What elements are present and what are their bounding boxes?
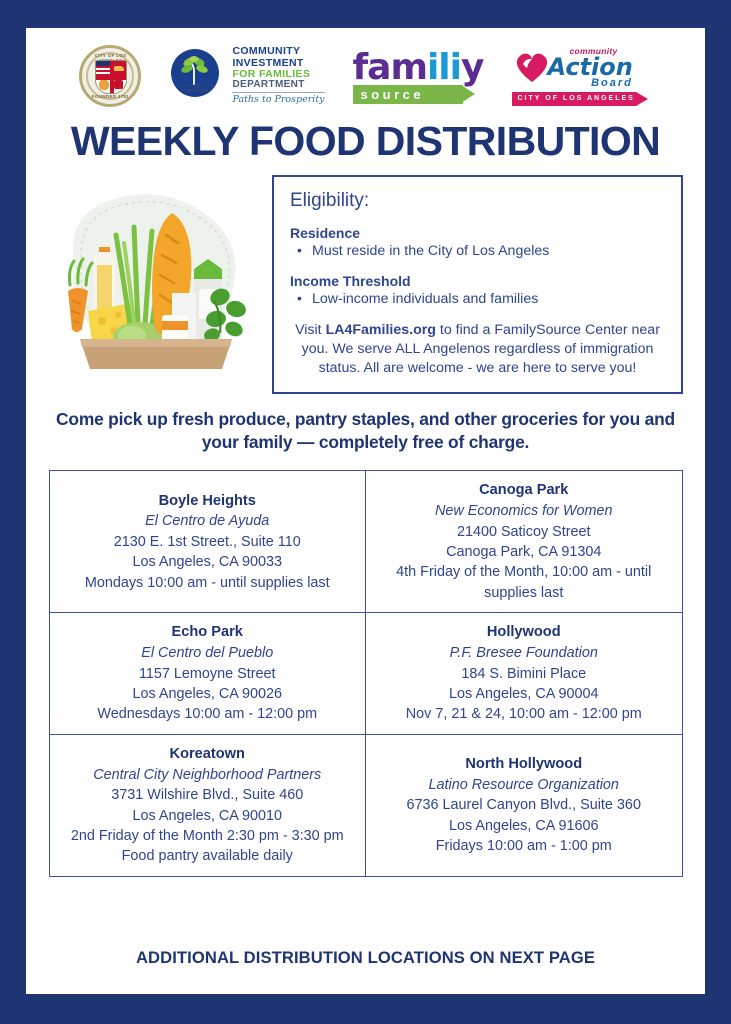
flyer-page: CITY OF LOS ANGELES FOUNDED 1781 (0, 0, 731, 1024)
table-row: Koreatown Central City Neighborhood Part… (49, 734, 682, 876)
eligibility-heading: Eligibility: (290, 190, 665, 212)
seal-bottom-text: FOUNDED 1781 (82, 94, 138, 99)
footer-note: ADDITIONAL DISTRIBUTION LOCATIONS ON NEX… (26, 948, 705, 994)
tree-icon (181, 55, 209, 85)
logo-row: CITY OF LOS ANGELES FOUNDED 1781 (26, 28, 705, 116)
food-basket-icon (44, 173, 264, 381)
location-cell-boyle-heights: Boyle Heights El Centro de Ayuda 2130 E.… (49, 471, 366, 613)
table-row: Echo Park El Centro del Pueblo 1157 Lemo… (49, 613, 682, 735)
grocery-box-illustration (44, 173, 264, 381)
cifd-tagline: Paths to Prosperity (232, 93, 324, 105)
location-city: Los Angeles, CA 91606 (374, 816, 674, 836)
cifd-logo: CITY OF LOS ANGELES COMMUNITY INVESTMENT… (167, 46, 324, 105)
familysource-logo: familiy source (351, 45, 486, 107)
visit-text: Visit LA4Families.org to find a FamilySo… (290, 321, 665, 378)
location-org: Central City Neighborhood Partners (58, 765, 358, 785)
location-name: Koreatown (58, 744, 358, 765)
city-seal-icon: CITY OF LOS ANGELES FOUNDED 1781 (79, 45, 141, 107)
website-link[interactable]: LA4Families.org (326, 322, 436, 338)
eligibility-box: Eligibility: Residence Must reside in th… (272, 175, 683, 394)
location-name: Boyle Heights (58, 491, 358, 512)
location-org: Latino Resource Organization (374, 775, 674, 795)
location-hours: Mondays 10:00 am - until supplies last (58, 573, 358, 593)
location-address: 6736 Laurel Canyon Blvd., Suite 360 (374, 795, 674, 815)
income-label: Income Threshold (290, 273, 665, 289)
location-hours: Nov 7, 21 & 24, 10:00 am - 12:00 pm (374, 704, 674, 724)
arrow-icon (636, 92, 648, 106)
location-hours: Fridays 10:00 am - 1:00 pm (374, 836, 674, 856)
location-city: Canoga Park, CA 91304 (374, 542, 674, 562)
heart-hands-icon (512, 48, 552, 84)
cab-big-text: Action (548, 56, 633, 78)
location-cell-koreatown: Koreatown Central City Neighborhood Part… (49, 734, 366, 876)
location-name: Canoga Park (374, 480, 674, 501)
cifd-line4: DEPARTMENT (232, 80, 324, 94)
table-row: Boyle Heights El Centro de Ayuda 2130 E.… (49, 471, 682, 613)
residence-label: Residence (290, 225, 665, 241)
arrow-icon (461, 85, 475, 103)
residence-list: Must reside in the City of Los Angeles (290, 242, 665, 261)
tagline: Come pick up fresh produce, pantry stapl… (26, 408, 705, 454)
location-hours: 2nd Friday of the Month 2:30 pm - 3:30 p… (58, 826, 358, 846)
community-action-board-logo: community Action Board CITY OF LOS ANGEL… (512, 44, 652, 108)
location-name: Echo Park (58, 622, 358, 643)
fs-word-b: ili (427, 47, 461, 88)
income-list: Low-income individuals and families (290, 290, 665, 309)
fs-word-a: fam (353, 47, 427, 88)
city-of-los-angeles-seal-logo: CITY OF LOS ANGELES FOUNDED 1781 (79, 45, 141, 107)
location-hours: Wednesdays 10:00 am - 12:00 pm (58, 704, 358, 724)
location-name: North Hollywood (374, 754, 674, 775)
location-city: Los Angeles, CA 90010 (58, 806, 358, 826)
location-address: 184 S. Bimini Place (374, 664, 674, 684)
location-extra: Food pantry available daily (58, 846, 358, 866)
cifd-line1: COMMUNITY (232, 46, 324, 57)
location-cell-echo-park: Echo Park El Centro del Pueblo 1157 Lemo… (49, 613, 366, 735)
fs-word-c: y (461, 47, 483, 88)
location-cell-hollywood: Hollywood P.F. Bresee Foundation 184 S. … (366, 613, 683, 735)
location-city: Los Angeles, CA 90004 (374, 684, 674, 704)
location-address: 1157 Lemoyne Street (58, 664, 358, 684)
location-org: El Centro del Pueblo (58, 643, 358, 663)
visit-prefix: Visit (295, 322, 326, 338)
location-address: 21400 Saticoy Street (374, 522, 674, 542)
location-cell-north-hollywood: North Hollywood Latino Resource Organiza… (366, 734, 683, 876)
location-address: 3731 Wilshire Blvd., Suite 460 (58, 785, 358, 805)
location-hours: 4th Friday of the Month, 10:00 am - unti… (374, 562, 674, 603)
location-org: El Centro de Ayuda (58, 511, 358, 531)
list-item: Low-income individuals and families (290, 290, 665, 309)
familysource-banner: source (353, 85, 463, 104)
fs-banner-text: source (353, 85, 463, 104)
middle-section: Eligibility: Residence Must reside in th… (26, 173, 705, 394)
cab-banner: CITY OF LOS ANGELES (512, 92, 636, 106)
page-title: WEEKLY FOOD DISTRIBUTION (71, 118, 660, 165)
location-org: P.F. Bresee Foundation (374, 643, 674, 663)
location-cell-canoga-park: Canoga Park New Economics for Women 2140… (366, 471, 683, 613)
location-org: New Economics for Women (374, 501, 674, 521)
location-city: Los Angeles, CA 90033 (58, 552, 358, 572)
location-name: Hollywood (374, 622, 674, 643)
cifd-tree-icon: CITY OF LOS ANGELES (167, 47, 225, 105)
flyer-white-area: CITY OF LOS ANGELES FOUNDED 1781 (26, 28, 705, 994)
location-address: 2130 E. 1st Street., Suite 110 (58, 532, 358, 552)
cifd-ring-text: CITY OF LOS ANGELES (167, 83, 225, 105)
list-item: Must reside in the City of Los Angeles (290, 242, 665, 261)
location-city: Los Angeles, CA 90026 (58, 684, 358, 704)
distribution-locations-table: Boyle Heights El Centro de Ayuda 2130 E.… (49, 470, 683, 877)
cab-banner-text: CITY OF LOS ANGELES (512, 92, 636, 106)
familysource-wordmark: familiy (353, 47, 484, 88)
